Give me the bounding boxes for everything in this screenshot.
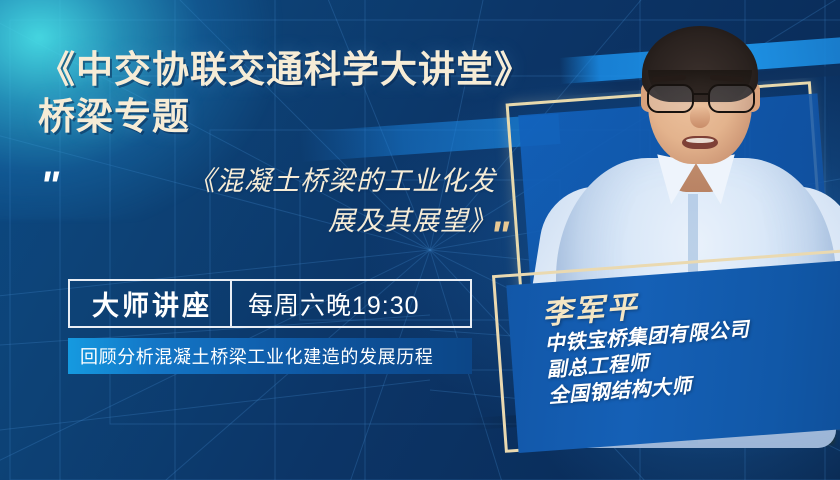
glasses-lens-right <box>708 84 755 113</box>
glasses-lens-left <box>647 84 694 113</box>
glasses-bridge <box>692 93 708 95</box>
lecture-schedule-box: 大师讲座 每周六晚19:30 <box>68 279 472 328</box>
poster-subtitle-line-2: 展及其展望》 <box>328 206 496 236</box>
lecture-poster: 李军平 中铁宝桥集团有限公司 副总工程师 全国钢结构大师 《中交协联交通科学大讲… <box>0 0 840 480</box>
poster-subtitle-line-1: 《混凝土桥梁的工业化发 <box>188 166 496 196</box>
description-text: 回顾分析混凝土桥梁工业化建造的发展历程 <box>80 343 433 369</box>
speaker-mouth <box>682 136 718 149</box>
quote-open-icon: " <box>40 166 56 206</box>
poster-title-line-1: 《中交协联交通科学大讲堂》 <box>38 49 532 90</box>
poster-subtitle-block: " 《混凝土桥梁的工业化发 展及其展望》 " <box>38 160 558 270</box>
lecture-label: 大师讲座 <box>70 284 230 323</box>
description-bar: 回顾分析混凝土桥梁工业化建造的发展历程 <box>68 338 472 374</box>
poster-title: 《中交协联交通科学大讲堂》 桥梁专题 <box>38 46 558 141</box>
quote-close-icon: " <box>490 216 506 256</box>
speaker-nose <box>690 106 710 128</box>
speaker-info-panel: 李军平 中铁宝桥集团有限公司 副总工程师 全国钢结构大师 <box>506 259 840 453</box>
lecture-schedule: 每周六晚19:30 <box>232 286 470 322</box>
poster-title-line-2: 桥梁专题 <box>38 93 558 140</box>
poster-subtitle: 《混凝土桥梁的工业化发 展及其展望》 <box>86 162 496 242</box>
